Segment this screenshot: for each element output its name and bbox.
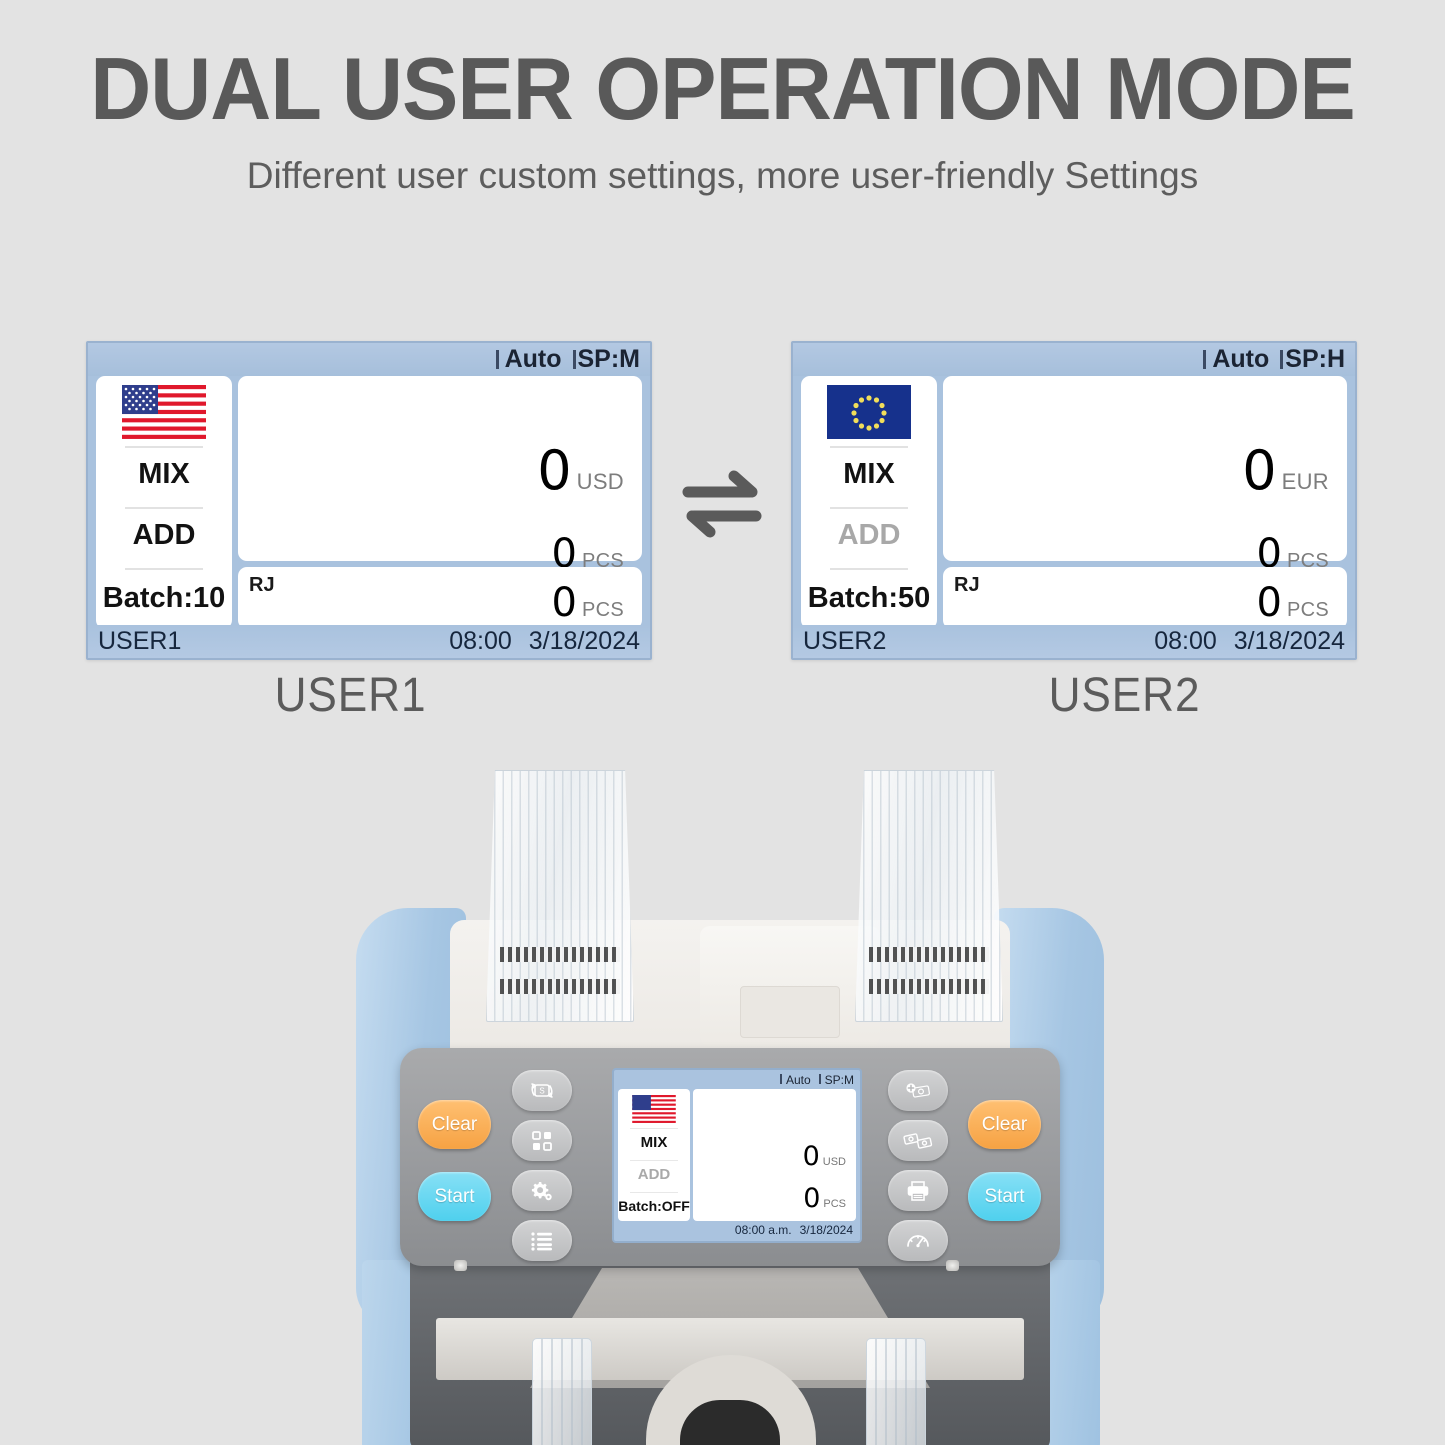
footer-user: USER1	[98, 627, 181, 656]
clear-button-left[interactable]: Clear	[418, 1100, 491, 1149]
status-divider-icon	[1280, 350, 1283, 369]
currency-refresh-icon: S	[529, 1080, 555, 1102]
lcd-screen-user2: Auto SP:H	[791, 341, 1357, 660]
amount-value: 0	[537, 444, 571, 498]
guide-ribs	[867, 1339, 925, 1445]
clear-button-right[interactable]: Clear	[968, 1100, 1041, 1149]
machine-footer-date: 3/18/2024	[800, 1223, 853, 1237]
stacker-area	[410, 1260, 1050, 1445]
lcd-footer: USER2 08:00 3/18/2024	[793, 625, 1355, 658]
start-button-left[interactable]: Start	[418, 1172, 491, 1221]
reject-value: 0	[552, 583, 577, 623]
machine-counter-column: 0 USD 0 PCS	[693, 1089, 856, 1221]
reject-value-row: 0 PCS	[1257, 583, 1329, 623]
banknote-add-icon-button[interactable]	[888, 1070, 948, 1111]
panel-screw	[946, 1260, 959, 1271]
machine-amount-row: 0 USD	[803, 1143, 846, 1170]
lcd-footer: USER1 08:00 3/18/2024	[88, 625, 650, 658]
reject-unit: PCS	[1287, 599, 1329, 622]
control-panel: Clear Start S	[400, 1048, 1060, 1266]
money-counter-machine: Clear Start S	[350, 760, 1110, 1445]
gear-settings-icon	[530, 1180, 554, 1202]
mode-label-mix[interactable]: MIX	[138, 448, 190, 500]
reject-panel: RJ 0 PCS	[238, 567, 642, 629]
start-button-right[interactable]: Start	[968, 1172, 1041, 1221]
machine-amount-unit: USD	[823, 1156, 846, 1168]
hood-panel	[740, 986, 840, 1038]
reject-value-row: 0 PCS	[552, 583, 624, 623]
status-mode: Auto	[496, 345, 562, 374]
currency-refresh-icon-button[interactable]: S	[512, 1070, 572, 1111]
speed-gauge-icon-button[interactable]	[888, 1220, 948, 1261]
output-guide-left[interactable]	[532, 1338, 592, 1445]
list-menu-icon	[530, 1231, 554, 1251]
gear-settings-icon-button[interactable]	[512, 1170, 572, 1211]
status-divider-icon	[1203, 350, 1206, 369]
machine-status-mode: Auto	[780, 1073, 811, 1087]
hopper-guide-right[interactable]	[855, 770, 1003, 1022]
banknote-count-icon	[903, 1131, 933, 1151]
machine-footer-time: 08:00 a.m.	[735, 1223, 792, 1237]
reject-tag: RJ	[249, 574, 275, 597]
page-title: DUAL USER OPERATION MODE	[29, 38, 1416, 140]
hopper-marking	[500, 947, 620, 962]
caption-user1: USER1	[275, 668, 427, 723]
page-subtitle: Different user custom settings, more use…	[0, 155, 1445, 197]
machine-hood	[700, 926, 880, 1046]
lcd-body: MIX ADD Batch:50 0 EUR 0 PCS	[793, 376, 1355, 629]
us-flag-icon	[632, 1095, 676, 1123]
output-guide-right[interactable]	[866, 1338, 926, 1445]
status-divider-icon	[496, 350, 499, 369]
hopper-guide-left[interactable]	[486, 770, 634, 1022]
machine-batch-label[interactable]: Batch:OFF	[618, 1193, 690, 1214]
speed-gauge-icon	[905, 1231, 931, 1251]
status-mode: Auto	[1203, 345, 1269, 374]
reject-unit: PCS	[582, 599, 624, 622]
hopper-marking	[869, 947, 989, 962]
printer-icon	[906, 1180, 930, 1202]
machine-amount-value: 0	[803, 1143, 820, 1170]
machine-status-bar: Auto SP:M	[614, 1070, 860, 1089]
grid-apps-icon	[531, 1130, 553, 1152]
footer-date: 3/18/2024	[529, 627, 640, 656]
machine-pieces-row: 0 PCS	[803, 1185, 846, 1212]
footer-user: USER2	[803, 627, 886, 656]
main-count-panel: 0 USD 0 PCS	[238, 376, 642, 561]
panel-screw	[454, 1260, 467, 1271]
mode-label-add[interactable]: ADD	[133, 509, 196, 561]
machine-lcd-footer: 08:00 a.m. 3/18/2024	[614, 1219, 860, 1241]
reject-value: 0	[1257, 583, 1282, 623]
amount-unit: EUR	[1282, 469, 1329, 495]
status-bar: Auto SP:M	[88, 343, 650, 376]
guide-ribs	[533, 1339, 591, 1445]
machine-mode-mix[interactable]: MIX	[641, 1129, 668, 1155]
batch-label[interactable]: Batch:50	[808, 570, 931, 615]
reject-panel: RJ 0 PCS	[943, 567, 1347, 629]
amount-value: 0	[1242, 444, 1276, 498]
machine-mode-add[interactable]: ADD	[638, 1161, 671, 1187]
settings-column: MIX ADD Batch:50	[801, 376, 937, 629]
machine-settings-column: MIX ADD Batch:OFF	[618, 1089, 690, 1221]
main-count-panel: 0 EUR 0 PCS	[943, 376, 1347, 561]
machine-lcd-display: Auto SP:M	[612, 1068, 862, 1243]
svg-text:S: S	[539, 1086, 544, 1095]
status-divider-icon	[573, 350, 576, 369]
hopper-marking	[869, 979, 989, 994]
lcd-body: MIX ADD Batch:10 0 USD 0 PCS	[88, 376, 650, 629]
amount-value-row: 0 EUR	[1242, 444, 1329, 498]
status-divider-icon	[819, 1074, 821, 1084]
machine-lcd-body: MIX ADD Batch:OFF 0 USD 0 PCS	[618, 1089, 856, 1221]
footer-date: 3/18/2024	[1234, 627, 1345, 656]
banknote-add-icon	[904, 1081, 932, 1101]
footer-time: 08:00	[1154, 627, 1217, 656]
banknote-count-icon-button[interactable]	[888, 1120, 948, 1161]
eu-flag-icon	[827, 385, 911, 439]
footer-datetime: 08:00 3/18/2024	[1154, 627, 1345, 656]
footer-datetime: 08:00 3/18/2024	[449, 627, 640, 656]
lcd-screen-user1: Auto SP:M	[86, 341, 652, 660]
mode-label-add[interactable]: ADD	[838, 509, 901, 561]
status-bar: Auto SP:H	[793, 343, 1355, 376]
amount-value-row: 0 USD	[537, 444, 624, 498]
mode-label-mix[interactable]: MIX	[843, 448, 895, 500]
machine-status-speed: SP:M	[819, 1073, 854, 1087]
settings-column: MIX ADD Batch:10	[96, 376, 232, 629]
counter-column: 0 USD 0 PCS RJ 0 PCS	[238, 376, 642, 629]
hopper-marking	[500, 979, 620, 994]
status-speed: SP:H	[1280, 345, 1345, 374]
grid-apps-icon-button[interactable]	[512, 1120, 572, 1161]
printer-icon-button[interactable]	[888, 1170, 948, 1211]
caption-user2: USER2	[1049, 668, 1201, 723]
machine-pieces-unit: PCS	[823, 1198, 846, 1210]
footer-time: 08:00	[449, 627, 512, 656]
us-flag-icon	[122, 385, 206, 439]
status-divider-icon	[780, 1074, 782, 1084]
counter-column: 0 EUR 0 PCS RJ 0 PCS	[943, 376, 1347, 629]
amount-unit: USD	[577, 469, 624, 495]
list-menu-icon-button[interactable]	[512, 1220, 572, 1261]
reject-tag: RJ	[954, 574, 980, 597]
product-infographic: DUAL USER OPERATION MODE Different user …	[0, 0, 1445, 1445]
machine-pieces-value: 0	[803, 1185, 820, 1212]
batch-label[interactable]: Batch:10	[103, 570, 226, 615]
status-speed: SP:M	[573, 345, 641, 374]
swap-arrows-icon	[678, 468, 766, 540]
